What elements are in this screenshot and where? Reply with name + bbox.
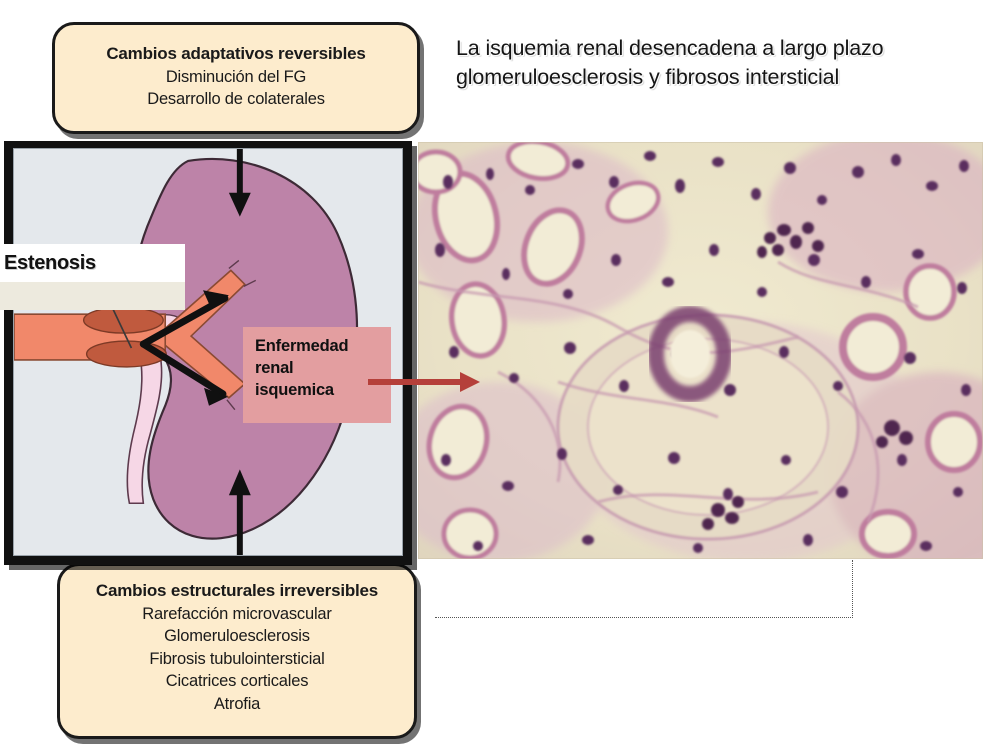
page-title: La isquemia renal desencadena a largo pl… xyxy=(456,34,934,91)
irreversible-changes-box: Cambios estructurales irreversibles Rare… xyxy=(57,563,417,739)
ischemic-disease-line-1: Enfermedad xyxy=(255,336,391,358)
irreversible-changes-line-3: Fibrosis tubulointersticial xyxy=(60,648,414,670)
dotted-placeholder-frame xyxy=(435,560,853,618)
right-arrow-icon xyxy=(366,368,482,396)
reversible-changes-line-2: Desarrollo de colaterales xyxy=(55,88,417,110)
irreversible-changes-line-2: Glomeruloesclerosis xyxy=(60,625,414,647)
stenosis-callout-beige-band xyxy=(0,282,185,310)
slide-canvas: La isquemia renal desencadena a largo pl… xyxy=(0,0,994,747)
irreversible-changes-line-4: Cicatrices corticales xyxy=(60,670,414,692)
reversible-changes-line-1: Disminución del FG xyxy=(55,66,417,88)
irreversible-changes-line-1: Rarefacción microvascular xyxy=(60,603,414,625)
irreversible-changes-line-5: Atrofia xyxy=(60,693,414,715)
histology-graphic xyxy=(418,142,983,559)
stenosis-label: Estenosis xyxy=(4,252,96,275)
reversible-changes-heading: Cambios adaptativos reversibles xyxy=(55,43,417,66)
stenosis-callout: Estenosis xyxy=(0,244,185,310)
irreversible-changes-heading: Cambios estructurales irreversibles xyxy=(60,580,414,603)
reversible-changes-box: Cambios adaptativos reversibles Disminuc… xyxy=(52,22,420,134)
kidney-histology-micrograph xyxy=(418,142,983,559)
